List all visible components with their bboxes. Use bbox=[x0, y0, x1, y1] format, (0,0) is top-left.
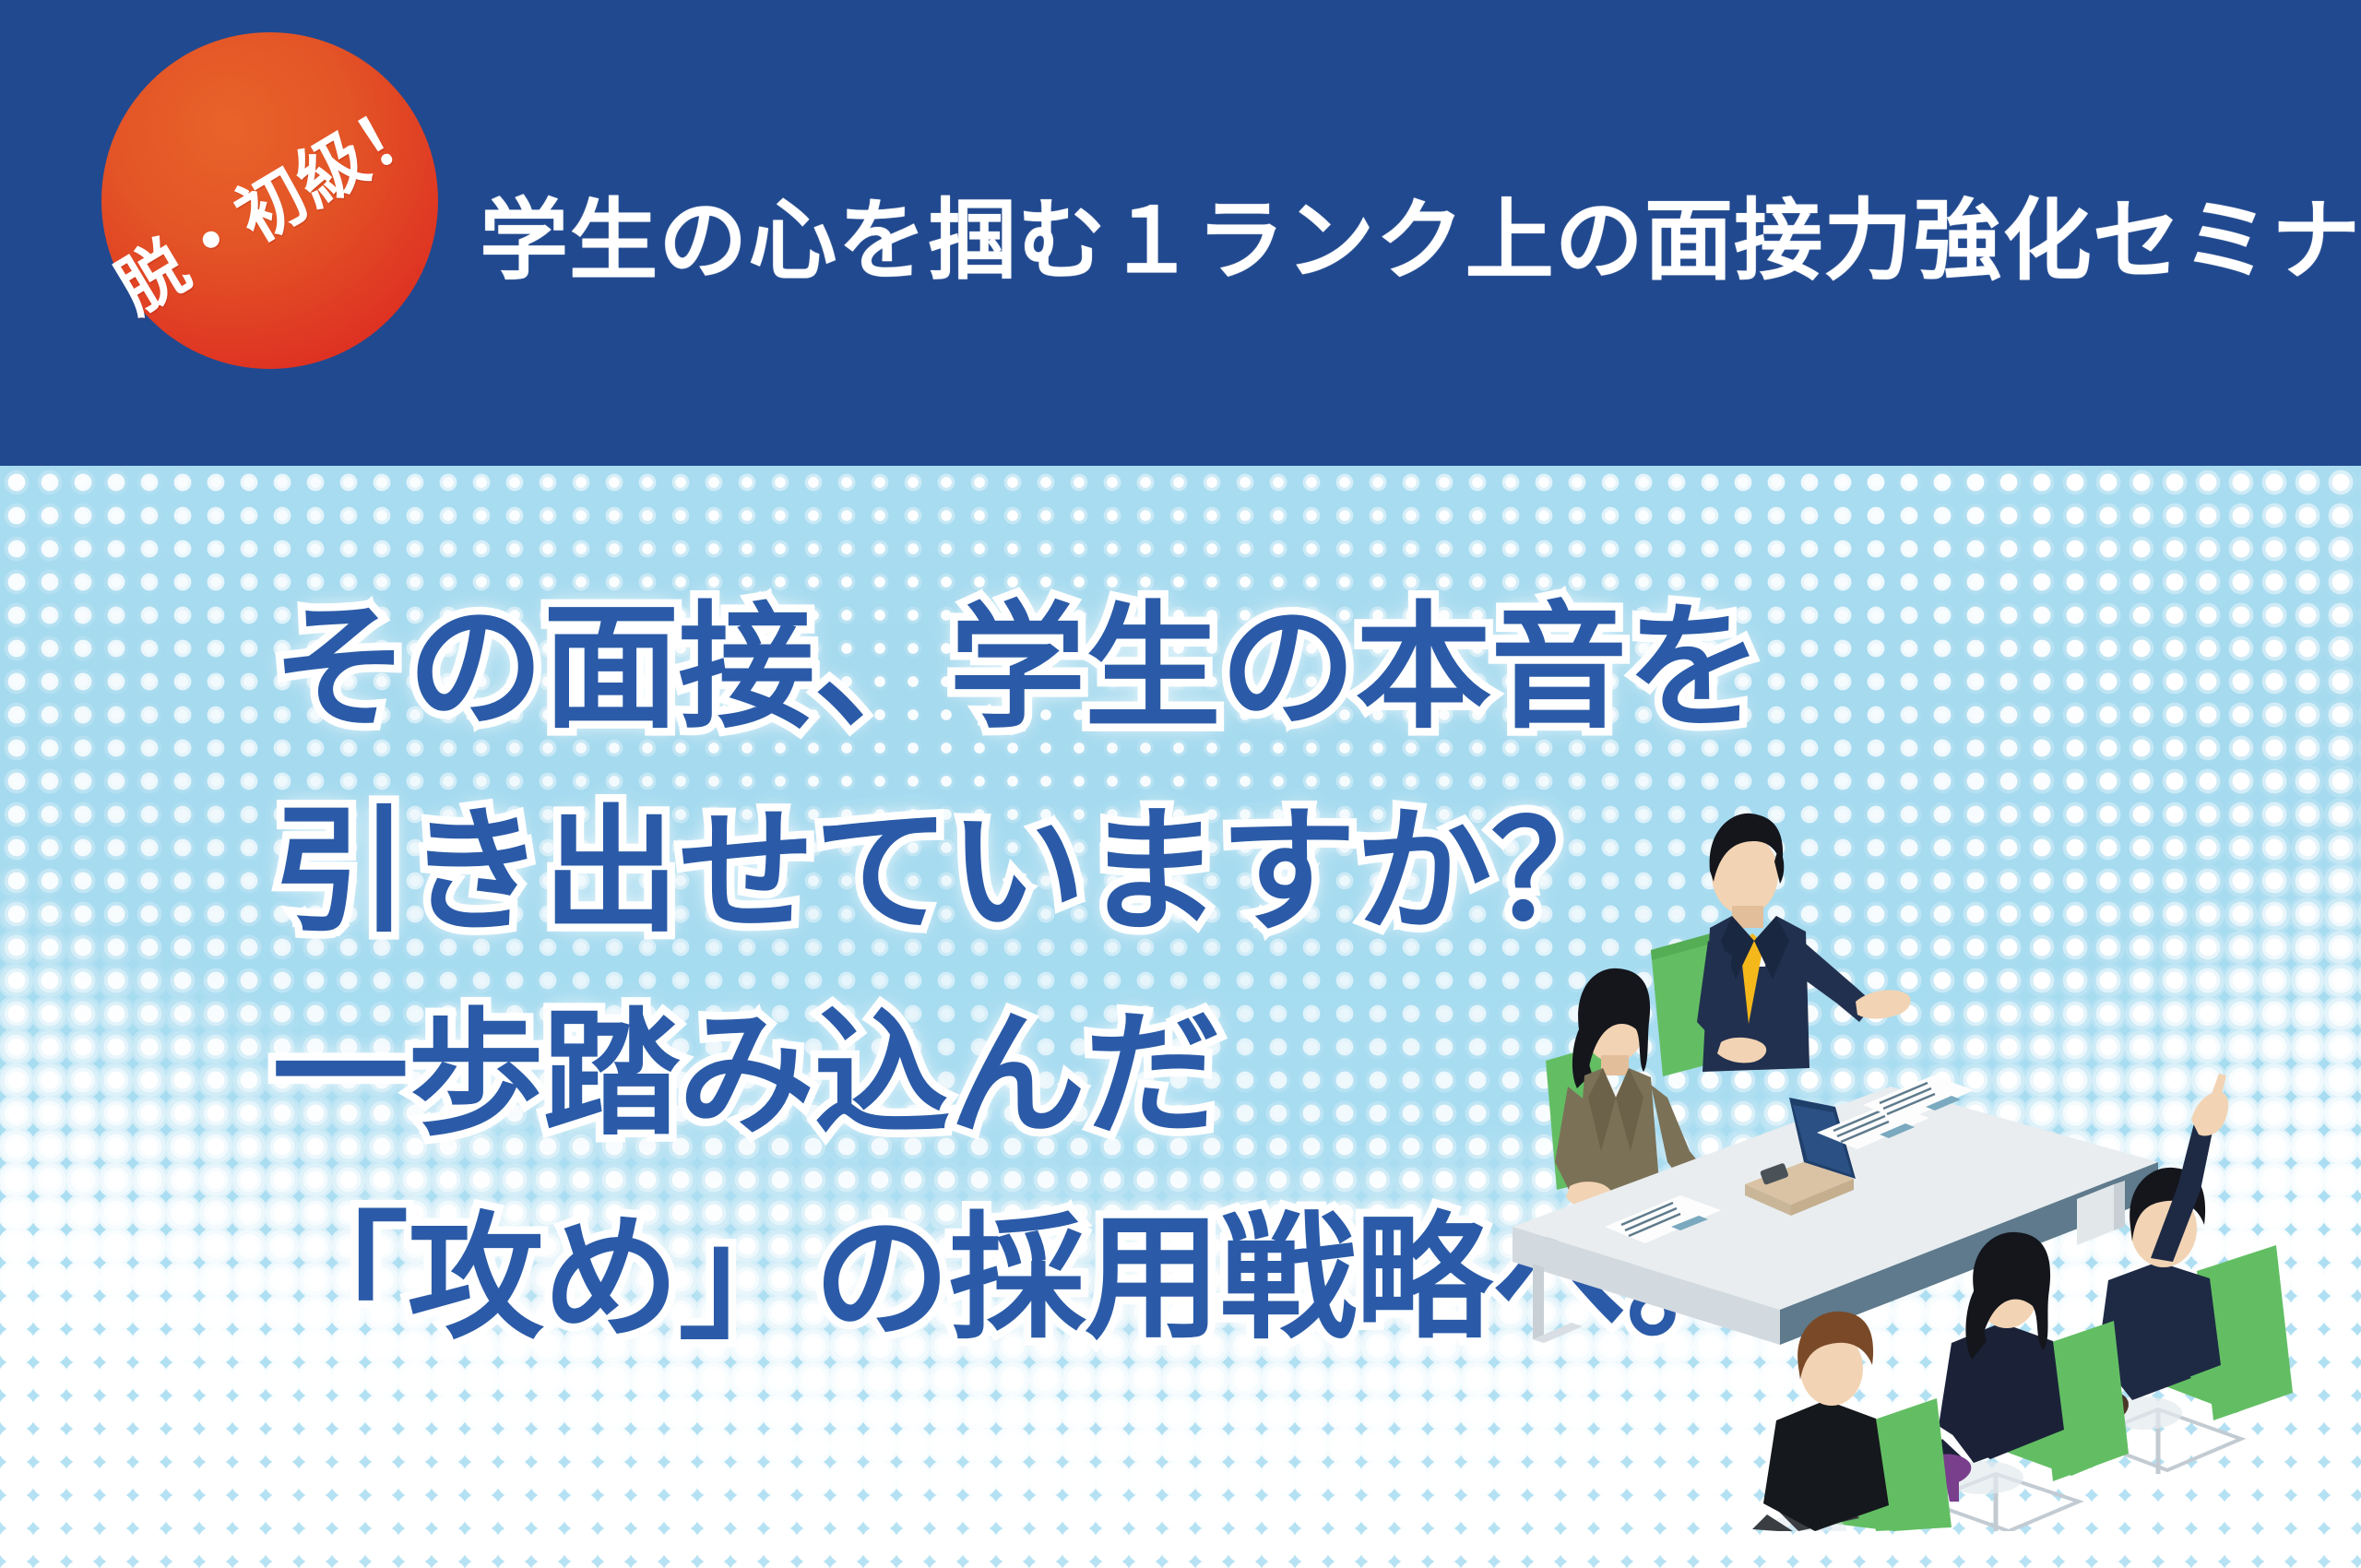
seminar-banner: 脱・初級！ 学生の心を掴む１ランク上の面接力強化セミナー その面接、学生の本音を… bbox=[0, 0, 2361, 1568]
badge-circle: 脱・初級！ bbox=[101, 32, 438, 369]
headline-line-1: その面接、学生の本音を bbox=[272, 567, 1762, 771]
student-front-male bbox=[1752, 1312, 1952, 1531]
interviewer-standing-male bbox=[1697, 814, 1911, 1072]
header-title: 学生の心を掴む１ランク上の面接力強化セミナー bbox=[480, 0, 2361, 466]
main-stage: その面接、学生の本音を 引き出せていますか？ 一歩踏み込んだ 「攻め」の採用戦略… bbox=[0, 466, 2361, 1568]
interview-illustration bbox=[1513, 793, 2324, 1531]
